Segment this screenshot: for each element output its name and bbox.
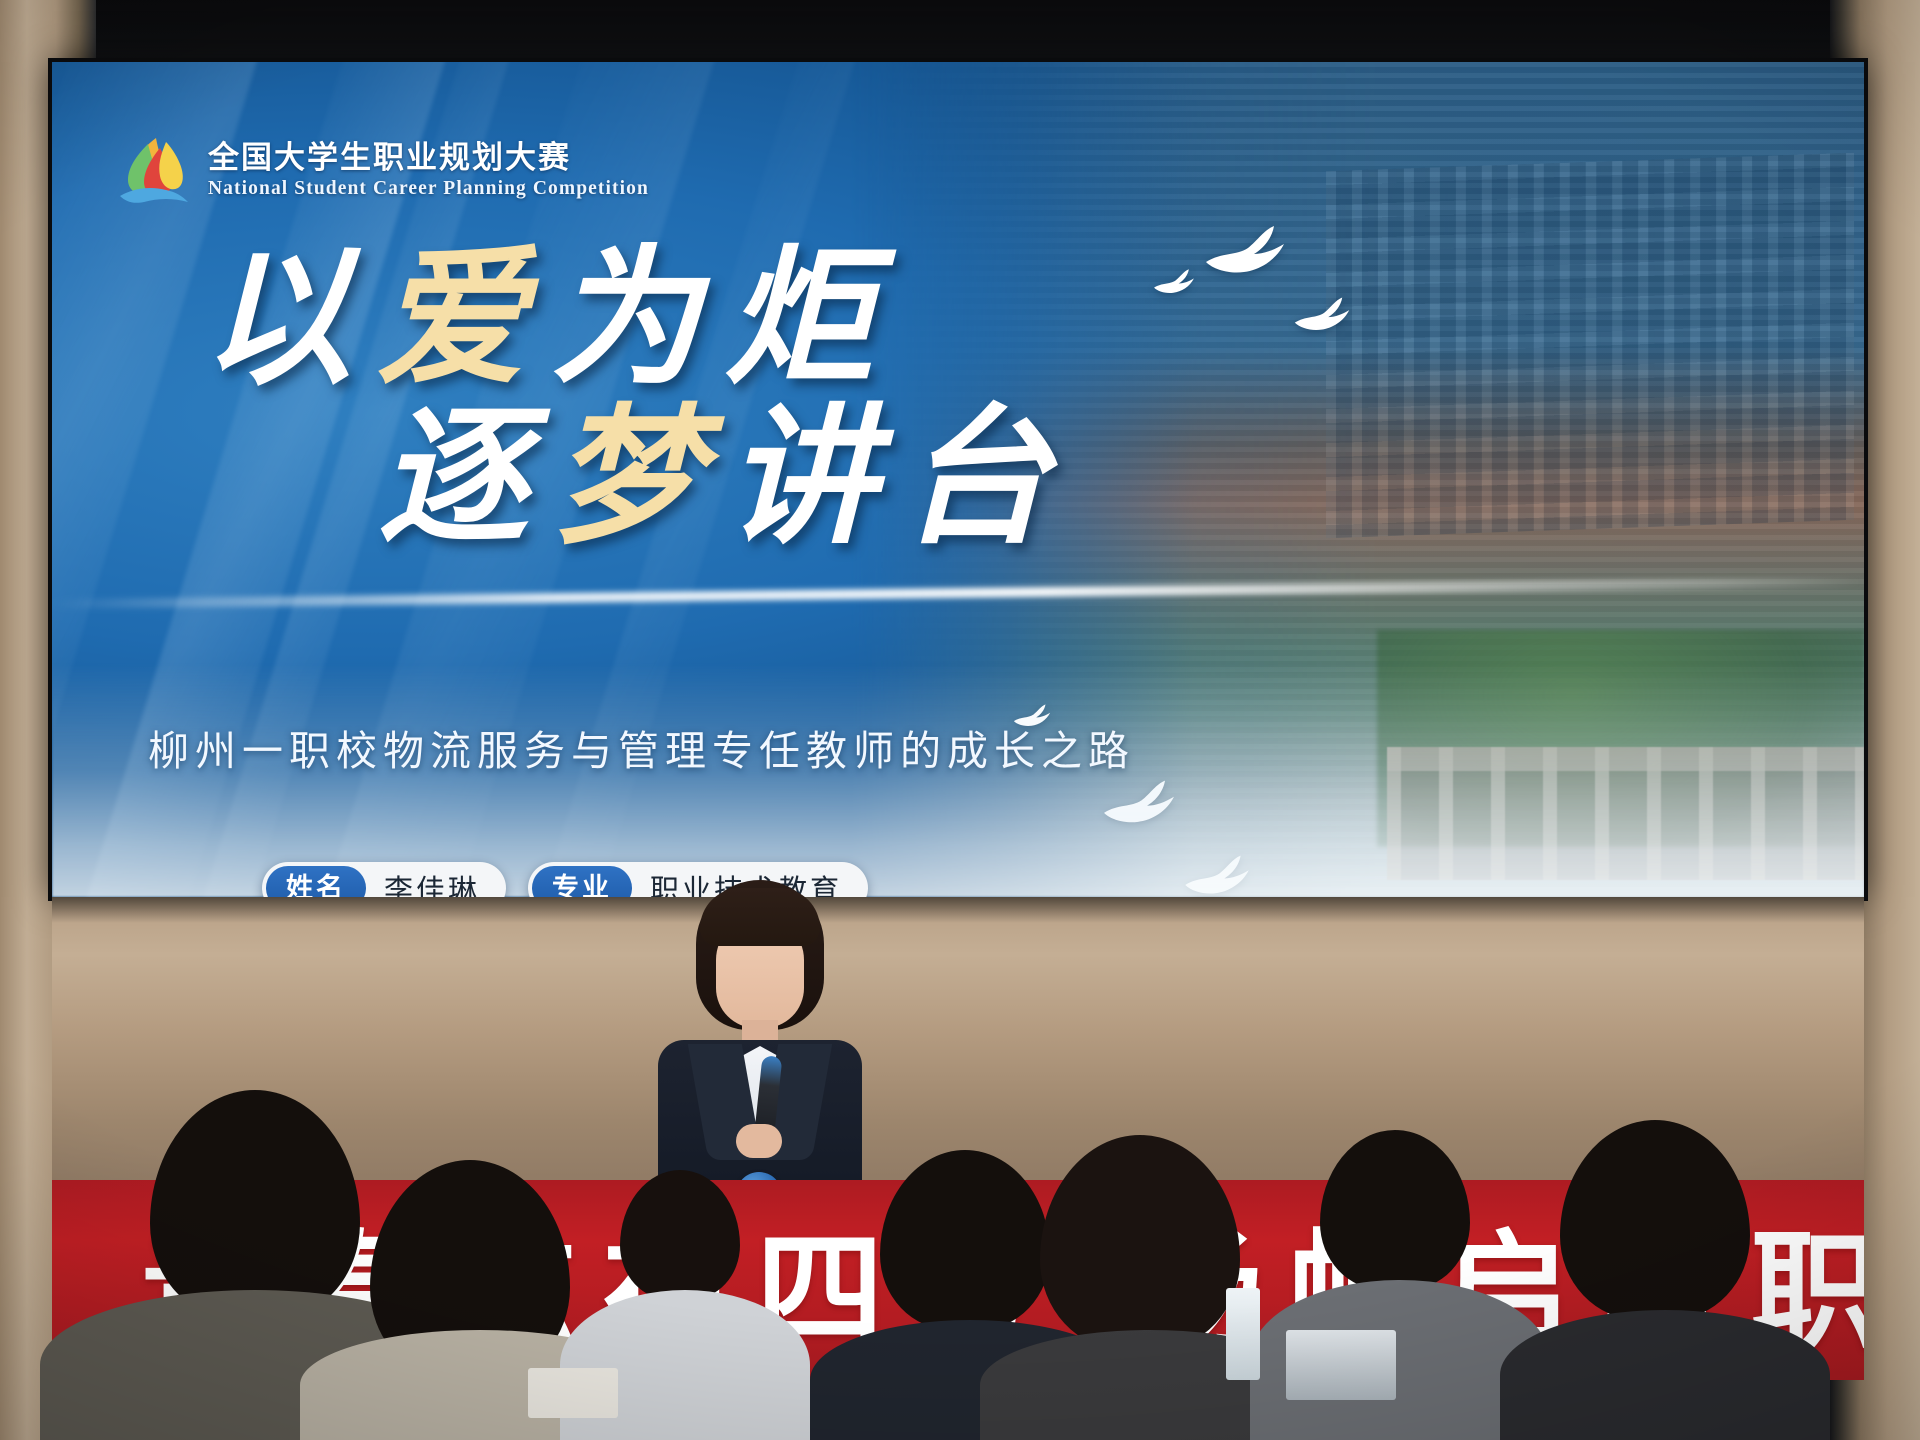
info-pill-value: 李佳琳 <box>384 867 480 897</box>
info-pill-key: 姓名 <box>266 866 366 897</box>
title-char: 炬 <box>724 230 898 406</box>
title-line-2: 逐梦讲台 <box>378 389 1232 566</box>
logo-title-en: National Student Career Planning Competi… <box>208 177 649 201</box>
audience-head <box>1320 1130 1470 1290</box>
speaker-bangs <box>700 888 820 946</box>
title-char-gold: 爱 <box>376 230 550 406</box>
title-char-gold: 梦 <box>552 389 726 565</box>
slide-subtitle: 柳州一职校物流服务与管理专任教师的成长之路 <box>148 717 1135 777</box>
audience-head <box>880 1150 1050 1330</box>
title-char: 台 <box>900 389 1074 565</box>
paper-stack <box>528 1368 618 1418</box>
audience-head <box>620 1170 740 1300</box>
audience-head <box>1560 1120 1750 1320</box>
water-bottle <box>1226 1288 1260 1380</box>
title-char: 为 <box>550 230 724 406</box>
title-char: 以 <box>202 230 376 406</box>
title-char: 逐 <box>378 389 552 565</box>
flame-logo-icon <box>114 134 192 208</box>
info-pill-name: 姓名 李佳琳 <box>262 862 506 897</box>
presentation-scene: 全国大学生职业规划大赛 National Student Career Plan… <box>0 0 1920 1440</box>
competition-logo: 全国大学生职业规划大赛 National Student Career Plan… <box>114 134 649 208</box>
laptop-screen <box>1286 1330 1396 1400</box>
title-char: 讲 <box>726 389 900 565</box>
campus-building-windows <box>1326 153 1854 539</box>
title-line-1: 以爱为炬 <box>202 230 1232 407</box>
led-screen: 全国大学生职业规划大赛 National Student Career Plan… <box>52 62 1864 897</box>
wall-top-band <box>0 0 1920 60</box>
slide-main-title: 以爱为炬 逐梦讲台 <box>202 230 1232 566</box>
logo-title-cn: 全国大学生职业规划大赛 <box>208 141 649 174</box>
stage-edge-shadow <box>52 897 1864 923</box>
audience-head <box>1040 1135 1240 1350</box>
audience-silhouettes <box>0 1130 1920 1440</box>
audience-shoulders <box>1500 1310 1830 1440</box>
dove-icon <box>1292 294 1352 336</box>
info-pill-key: 专业 <box>532 866 632 897</box>
